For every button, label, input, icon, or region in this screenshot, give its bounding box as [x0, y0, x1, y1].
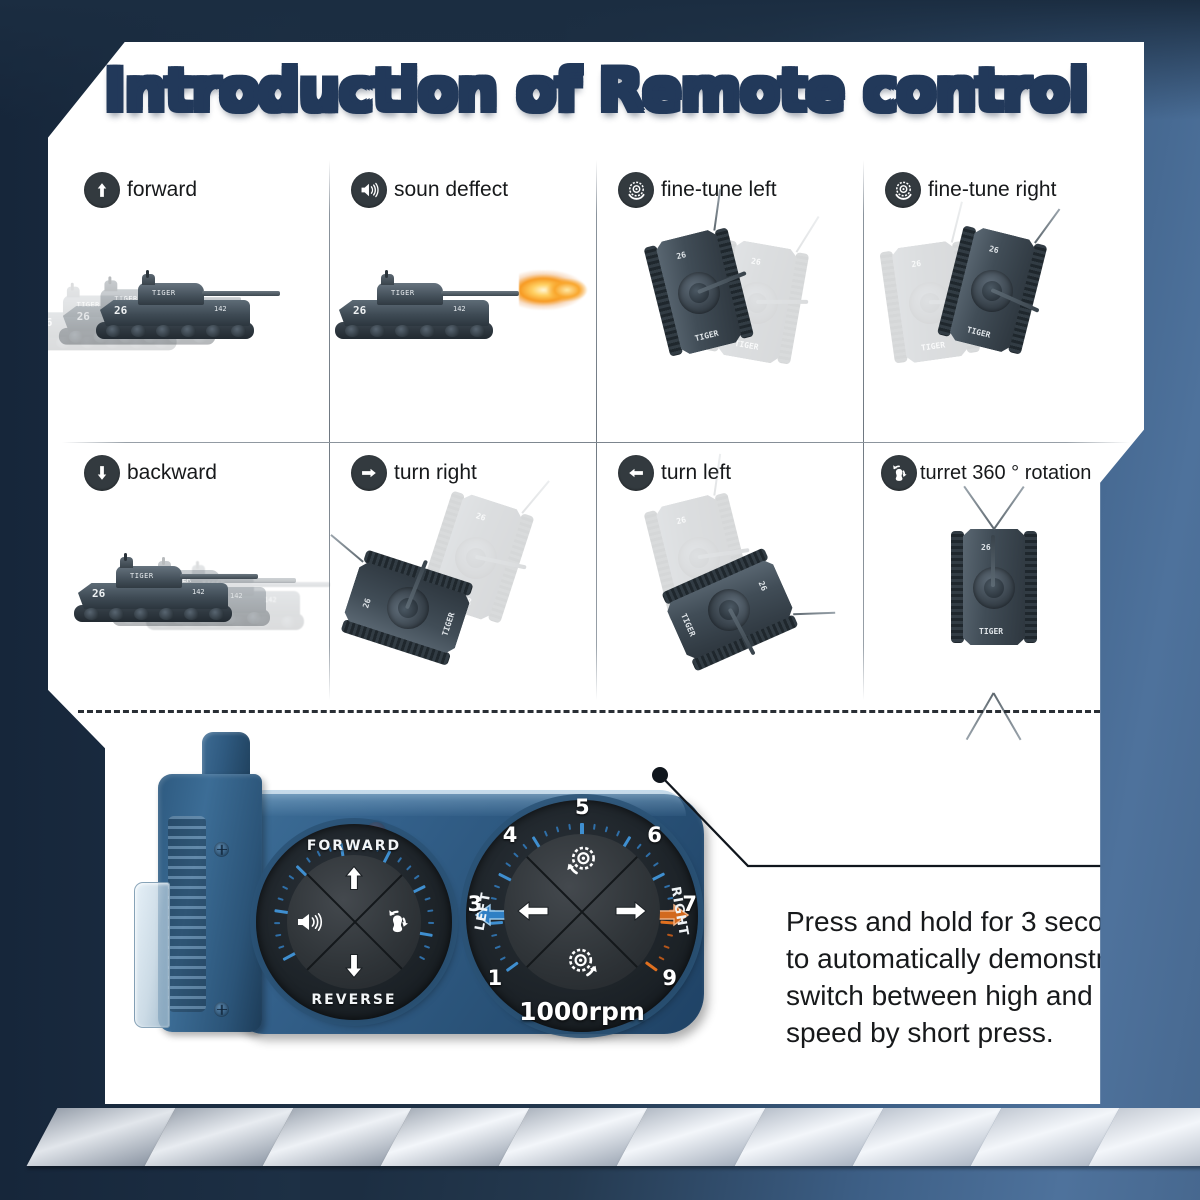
- tank-part: 26: [114, 304, 127, 317]
- dial-tick: [499, 956, 505, 961]
- left-dial-bottom-label: REVERSE: [256, 992, 452, 1008]
- forward-button[interactable]: [337, 861, 371, 895]
- arrow-up-icon: [84, 172, 120, 208]
- dial-tick: [616, 830, 620, 836]
- tank-part: [159, 608, 174, 620]
- speaker-icon: [351, 172, 387, 208]
- feature-cell-fine-tune-left: fine-tune left 26TIGER26TIGER: [596, 160, 863, 430]
- dial-tick: [274, 922, 280, 924]
- dial-tick: [397, 857, 402, 863]
- feature-cell-sound-effect: soun deffect TIGER26142: [329, 160, 596, 430]
- infographic-root: Introduction of Remote control forward: [0, 0, 1200, 1200]
- left-dial-top-label: FORWARD: [256, 838, 452, 854]
- tank-part: [385, 270, 388, 278]
- callout-anchor-dot: [652, 767, 668, 783]
- dial-tick: [506, 961, 519, 972]
- dial-tick: [505, 862, 511, 867]
- dial-tick: [652, 872, 666, 881]
- tank-part: [106, 325, 121, 337]
- page-title: Introduction of Remote control: [48, 56, 1144, 124]
- tank-part: [156, 325, 171, 337]
- tank-part: 26: [92, 587, 105, 600]
- dial-tick: [658, 956, 664, 961]
- feature-label: forward: [127, 178, 197, 202]
- tank-part: TIGER: [979, 627, 1003, 636]
- dial-tick: [282, 885, 288, 890]
- tank-part: [793, 612, 835, 615]
- tank-part: [993, 486, 1024, 530]
- dial-scale-number: 9: [662, 966, 677, 990]
- content-panel: Introduction of Remote control forward: [48, 42, 1144, 1104]
- screw-icon: [214, 842, 229, 857]
- turn-right-button[interactable]: [610, 892, 652, 930]
- tank-part: [131, 325, 146, 337]
- tank-part: [146, 270, 149, 278]
- tank-part: [206, 325, 221, 337]
- tank-part: [993, 693, 1021, 741]
- dial-tick: [491, 934, 497, 937]
- tank-part: 26: [750, 256, 761, 267]
- tank-part: [184, 608, 199, 620]
- tank-part: [445, 325, 460, 337]
- tank-part: [69, 331, 84, 343]
- turret-rotate-icon: [881, 455, 917, 491]
- fine-tune-left-button[interactable]: [562, 842, 602, 880]
- dial-tick: [414, 875, 420, 880]
- tank-illustration-firing: TIGER26142: [329, 220, 596, 426]
- turret-rotate-button[interactable]: [379, 903, 417, 941]
- feature-cell-turn-left: turn left 26TIGER26TIGER: [596, 443, 863, 713]
- dial-tick: [288, 875, 294, 880]
- dial-tick: [568, 824, 571, 830]
- dial-scale-number: 5: [575, 795, 590, 819]
- dial-tick: [556, 826, 560, 832]
- arrow-down-icon: [84, 455, 120, 491]
- left-dial[interactable]: FORWARD REVERSE: [256, 824, 452, 1020]
- tank-part: [345, 325, 360, 337]
- tank-part: [181, 325, 196, 337]
- dial-scale-number: 4: [503, 823, 518, 847]
- dial-tick: [653, 862, 659, 867]
- feature-cell-backward: backward TIGER26142 TIGER26142 TIGER2614…: [62, 443, 329, 713]
- tank-part: [134, 608, 149, 620]
- feature-cell-forward: forward TIGER26142 TIGER26142 TIGER26142: [62, 160, 329, 430]
- tank-part: [109, 608, 124, 620]
- dial-tick: [419, 932, 433, 938]
- dial-tick: [424, 945, 430, 949]
- screw-icon: [214, 1002, 229, 1017]
- dial-tick: [513, 852, 519, 858]
- tank-part: TIGER: [130, 572, 154, 580]
- tank-part: [395, 325, 410, 337]
- remote-control-illustration: FORWARD REVERSE: [96, 732, 716, 1072]
- battery-clip: [134, 882, 170, 1028]
- dial-scale-number: 6: [647, 823, 662, 847]
- feature-label: fine-tune right: [928, 178, 1056, 202]
- tank-part: 26: [353, 304, 366, 317]
- tank-topview: 26TIGER: [949, 523, 1039, 653]
- tank-part: [231, 325, 246, 337]
- reverse-button[interactable]: [337, 949, 371, 983]
- tank-part: [1034, 208, 1060, 243]
- dial-tick: [544, 830, 548, 836]
- dial-tick: [522, 843, 527, 849]
- tank-part: 26: [988, 244, 1000, 255]
- dial-tick: [428, 922, 434, 924]
- dial-tick: [645, 961, 658, 972]
- tank-topview-turret-rotation: 26TIGER: [863, 503, 1130, 709]
- page-title-text: Introduction of Remote control: [104, 56, 1088, 124]
- feature-grid: forward TIGER26142 TIGER26142 TIGER26142: [62, 160, 1130, 700]
- feature-label: soun deffect: [394, 178, 508, 202]
- tank-part: [202, 291, 280, 296]
- tank-part: TIGER: [391, 289, 415, 297]
- tank-part: 142: [453, 305, 466, 313]
- tank-part: 26: [981, 543, 991, 552]
- dial-tick: [275, 934, 281, 937]
- tank-part: [951, 531, 964, 643]
- dial-tick: [593, 824, 596, 830]
- right-dial[interactable]: 1345679 LEFT RIGHT 1000rpm: [466, 800, 698, 1032]
- tank-part: TIGER: [152, 289, 176, 297]
- gear-wheel-icon: [885, 172, 921, 208]
- dial-tick: [645, 852, 651, 858]
- tank-topview-turn-left: 26TIGER26TIGER: [596, 503, 863, 709]
- dial-tick: [424, 897, 430, 901]
- section-divider: [78, 710, 1100, 713]
- tank-part: [796, 216, 820, 252]
- dial-tick: [427, 909, 433, 912]
- tank-part: [124, 553, 127, 561]
- antenna-base: [202, 732, 250, 778]
- tank-part: [420, 325, 435, 337]
- feature-label: turn left: [661, 461, 731, 485]
- turn-left-button[interactable]: [512, 892, 554, 930]
- arrow-left-icon: [618, 455, 654, 491]
- tank-part: [470, 325, 485, 337]
- sound-button[interactable]: [293, 905, 331, 939]
- tank-part: [441, 291, 519, 296]
- tank-part: [1024, 531, 1037, 643]
- tank-part: [966, 693, 994, 741]
- gear-wheel-icon: [618, 172, 654, 208]
- feature-label: backward: [127, 461, 217, 485]
- tank-part: 26: [911, 259, 922, 269]
- feature-cell-turret-rotation: turret 360 ° rotation 26TIGER: [863, 443, 1130, 713]
- tank-illustration-backward: TIGER26142 TIGER26142 TIGER26142: [62, 503, 329, 709]
- dial-tick: [494, 885, 500, 889]
- fine-tune-right-button[interactable]: [562, 944, 602, 982]
- tank-part: 142: [192, 588, 205, 596]
- dial-tick: [636, 843, 641, 849]
- dial-tick: [494, 945, 500, 949]
- grip-ribs: [168, 816, 206, 1012]
- tank-part: [330, 534, 363, 562]
- rpm-label: 1000rpm: [466, 997, 698, 1026]
- tank-topview-fine-tune-left: 26TIGER26TIGER: [596, 220, 863, 426]
- feature-cell-turn-right: turn right 26TIGER26TIGER: [329, 443, 596, 713]
- tank-part: [991, 535, 995, 587]
- feature-label: turret 360 ° rotation: [920, 462, 1091, 485]
- dial-tick: [663, 945, 669, 949]
- tank-part: [180, 574, 258, 579]
- arrow-right-icon: [351, 455, 387, 491]
- tank-part: [209, 608, 224, 620]
- tank-illustration-forward: TIGER26142 TIGER26142 TIGER26142: [62, 220, 329, 426]
- dial-scale-number: 1: [488, 966, 503, 990]
- feature-cell-fine-tune-right: fine-tune right 26TIGER26TIGER: [863, 160, 1130, 430]
- dial-tick: [277, 897, 283, 901]
- tank-part: [84, 608, 99, 620]
- feature-label: turn right: [394, 461, 477, 485]
- tank-part: [756, 300, 808, 304]
- tank-topview-turn-right: 26TIGER26TIGER: [329, 503, 596, 709]
- tank-part: [963, 486, 994, 530]
- tank-topview-fine-tune-right: 26TIGER26TIGER: [863, 220, 1130, 426]
- dial-tick: [306, 857, 311, 863]
- dial-tick: [667, 934, 673, 937]
- dial-tick: [419, 956, 425, 961]
- tank-part: [370, 325, 385, 337]
- dial-tick: [278, 945, 284, 949]
- tank-part: 142: [214, 305, 227, 313]
- dial-tick: [605, 826, 609, 832]
